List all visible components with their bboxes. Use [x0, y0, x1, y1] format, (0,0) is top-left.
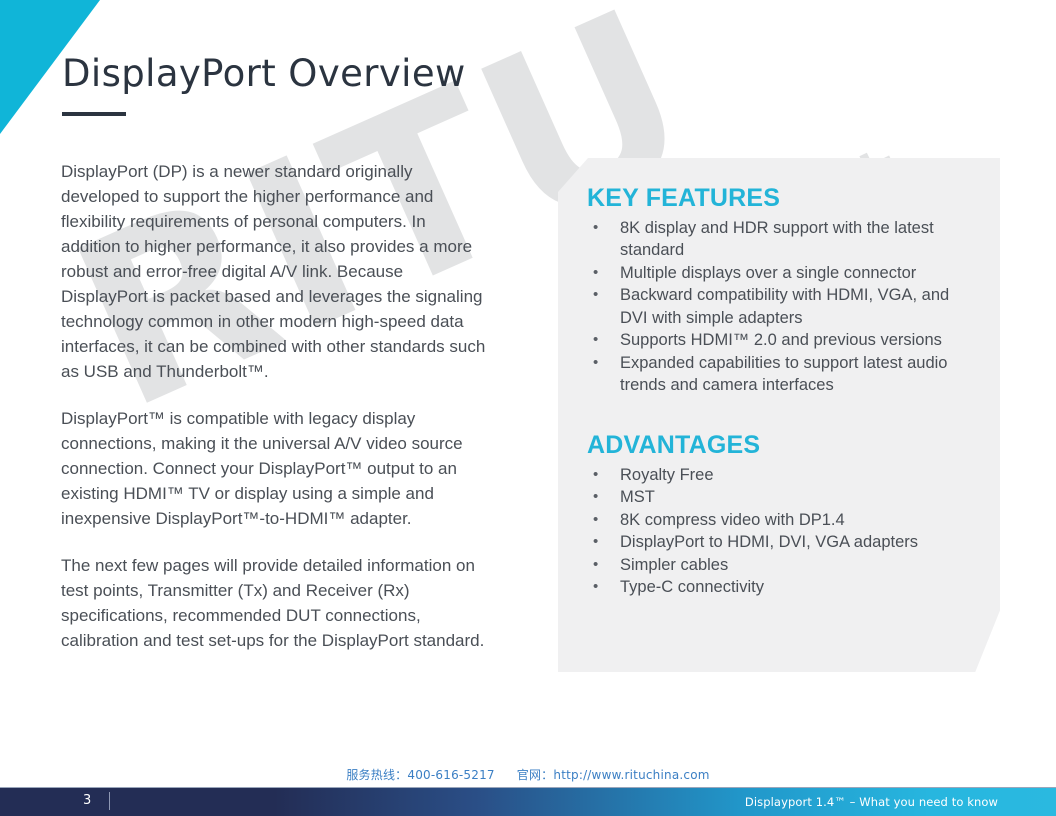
list-item: •DisplayPort to HDMI, DVI, VGA adapters [587, 531, 970, 554]
title-block: DisplayPort Overview [62, 54, 466, 116]
bullet-dot-icon: • [593, 464, 598, 487]
footer-page-number: 3 [83, 793, 91, 808]
footer-bar: 3 Displayport 1.4™ – What you need to kn… [0, 788, 1056, 816]
list-item-label: MST [620, 488, 655, 506]
list-item: •Backward compatibility with HDMI, VGA, … [587, 284, 970, 329]
highlights-panel: KEY FEATURES •8K display and HDR support… [558, 158, 1000, 672]
list-item: •Expanded capabilities to support latest… [587, 352, 970, 397]
key-features-heading: KEY FEATURES [587, 184, 970, 213]
contact-strip: 服务热线：400-616-5217官网：http://www.rituchina… [0, 766, 1056, 783]
body-paragraph-1: DisplayPort (DP) is a newer standard ori… [61, 159, 489, 384]
list-item: •MST [587, 486, 970, 509]
list-item: •Supports HDMI™ 2.0 and previous version… [587, 329, 970, 352]
bullet-dot-icon: • [593, 262, 598, 285]
list-item-label: Multiple displays over a single connecto… [620, 264, 916, 282]
title-underline-rule [62, 112, 126, 116]
bullet-dot-icon: • [593, 486, 598, 509]
list-item: •Royalty Free [587, 464, 970, 487]
list-item: •Multiple displays over a single connect… [587, 262, 970, 285]
bullet-dot-icon: • [593, 217, 598, 240]
bullet-dot-icon: • [593, 554, 598, 577]
hotline-value: 400-616-5217 [407, 768, 494, 782]
footer-deck-title: Displayport 1.4™ – What you need to know [745, 795, 998, 809]
list-item-label: Backward compatibility with HDMI, VGA, a… [620, 286, 949, 327]
list-item-label: DisplayPort to HDMI, DVI, VGA adapters [620, 533, 918, 551]
list-item-label: 8K display and HDR support with the late… [620, 219, 934, 260]
website-label: 官网： [517, 768, 554, 782]
list-item-label: Simpler cables [620, 556, 728, 574]
bullet-dot-icon: • [593, 509, 598, 532]
body-text-column: DisplayPort (DP) is a newer standard ori… [61, 159, 489, 653]
bullet-dot-icon: • [593, 576, 598, 599]
advantages-list: •Royalty Free •MST •8K compress video wi… [587, 464, 970, 599]
list-item: •8K compress video with DP1.4 [587, 509, 970, 532]
bullet-dot-icon: • [593, 531, 598, 554]
bullet-dot-icon: • [593, 352, 598, 375]
page-title: DisplayPort Overview [62, 54, 466, 95]
key-features-list: •8K display and HDR support with the lat… [587, 217, 970, 397]
list-item: •8K display and HDR support with the lat… [587, 217, 970, 262]
hotline-label: 服务热线： [346, 768, 407, 782]
list-item-label: Supports HDMI™ 2.0 and previous versions [620, 331, 942, 349]
list-item-label: Type-C connectivity [620, 578, 764, 596]
list-item-label: Royalty Free [620, 466, 714, 484]
list-item-label: 8K compress video with DP1.4 [620, 511, 845, 529]
footer-vertical-divider [109, 792, 110, 810]
list-item: •Type-C connectivity [587, 576, 970, 599]
list-item: •Simpler cables [587, 554, 970, 577]
body-paragraph-2: DisplayPort™ is compatible with legacy d… [61, 406, 489, 531]
advantages-heading: ADVANTAGES [587, 431, 970, 460]
bullet-dot-icon: • [593, 329, 598, 352]
list-item-label: Expanded capabilities to support latest … [620, 354, 947, 395]
bullet-dot-icon: • [593, 284, 598, 307]
body-paragraph-3: The next few pages will provide detailed… [61, 553, 489, 653]
website-link[interactable]: http://www.rituchina.com [553, 768, 709, 782]
